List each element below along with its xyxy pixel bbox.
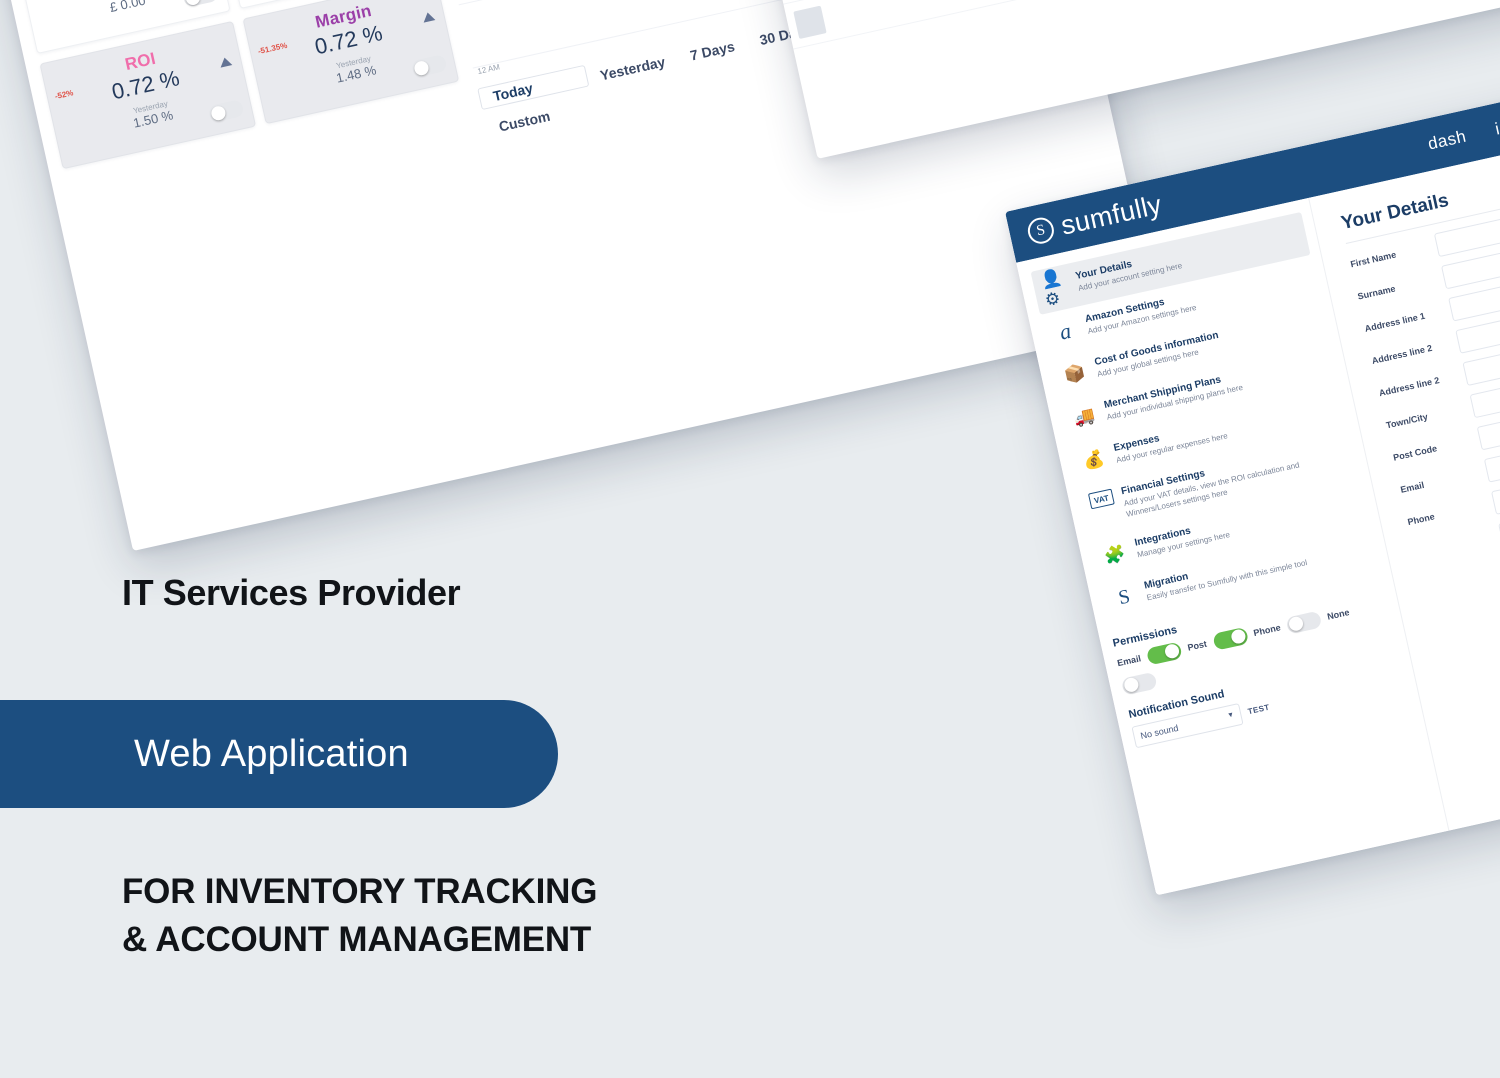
sales-cell: £ 501.72 — [346, 547, 487, 552]
web-application-label: Web Application — [134, 733, 409, 776]
sales-cell: £ 501.72 — [340, 519, 481, 551]
refunds-cell: £ 0.00 — [617, 486, 758, 542]
truck-icon: 🚚 — [1069, 402, 1100, 433]
nav-inventory[interactable]: inventory — [1493, 104, 1500, 139]
units-cell: 55 — [746, 429, 887, 485]
total-profit: £ 3.60 — [488, 544, 629, 551]
subtitle-line-1: FOR INVENTORY TRACKING — [122, 868, 597, 916]
inventory-row[interactable]: £ 2.70 🚚 ✚ 💬 — [784, 0, 1500, 50]
nav-dash[interactable]: dash — [1426, 127, 1468, 155]
field-label: Email — [1399, 468, 1477, 495]
field-label: Post Code — [1392, 436, 1470, 463]
inventory-table: Replenish Note Title: GIFT SET SKETCH 20… — [716, 0, 1500, 50]
metric-toggle[interactable] — [182, 0, 220, 13]
total-refunds: £ 0.00 — [623, 514, 764, 551]
field-label: First Name — [1349, 243, 1427, 270]
field-label: Address line 2 — [1378, 372, 1456, 399]
box-icon: 📦 — [1059, 359, 1090, 390]
product-thumbnail — [785, 3, 834, 40]
perm-label-email: Email — [1116, 653, 1142, 668]
chevron-down-icon: ▼ — [1227, 711, 1235, 719]
test-sound-button[interactable]: TEST — [1247, 703, 1270, 717]
profit-cell: £ 3.60 — [482, 516, 623, 551]
phone-prefix[interactable]: +44 — [1491, 483, 1500, 515]
field-label: Town/City — [1385, 404, 1463, 431]
puzzle-icon: 🧩 — [1099, 539, 1130, 570]
page-eyebrow: IT Services Provider — [122, 572, 460, 614]
market-cell: United Kingdom — [157, 549, 346, 551]
roi-cell: 0.72 % — [882, 399, 1023, 455]
perm-label-none: None — [1326, 607, 1350, 622]
perm-toggle-post[interactable] — [1212, 626, 1249, 650]
roi-cell: 0.72 % — [888, 426, 1029, 482]
total-units: 55 — [759, 484, 900, 539]
poster-canvas: S sumfully dash inventory sales repricin… — [0, 0, 1500, 1078]
web-application-badge: Web Application — [0, 700, 558, 808]
profit-cell: £ 3.60 — [475, 489, 616, 545]
subtitle-line-2: & ACCOUNT MANAGEMENT — [122, 916, 597, 964]
field-label: Surname — [1357, 275, 1435, 302]
refunds-cell: £ 0.00 — [611, 459, 752, 515]
vat-tag-icon: VAT — [1088, 489, 1115, 510]
perm-toggle-phone[interactable] — [1285, 610, 1322, 634]
product-info — [831, 0, 1075, 17]
sumfully-logo-icon: S — [1025, 215, 1056, 246]
user-gear-icon: 👤⚙ — [1040, 273, 1071, 304]
total-roi: 0.72 % — [894, 454, 1035, 509]
perm-toggle-email[interactable] — [1146, 641, 1183, 665]
amazon-icon: a — [1050, 316, 1081, 347]
metric-card-margin[interactable]: -51.35% Margin 0.72 % Yesterday 1.48 % — [243, 0, 460, 124]
perm-label-phone: Phone — [1253, 622, 1282, 638]
field-label: Phone — [1407, 500, 1485, 527]
coins-icon: 💰 — [1078, 445, 1109, 476]
selected-sound-label: No sound — [1139, 722, 1179, 740]
units-cell: 55 — [753, 456, 894, 512]
field-label: Address line 1 — [1364, 307, 1442, 334]
perm-label-post: Post — [1187, 639, 1208, 653]
page-subtitle: FOR INVENTORY TRACKING & ACCOUNT MANAGEM… — [122, 868, 597, 965]
perm-toggle-none[interactable] — [1121, 671, 1158, 695]
sumfully-s-icon: S — [1109, 582, 1140, 613]
field-label: Address line 2 — [1371, 339, 1449, 366]
